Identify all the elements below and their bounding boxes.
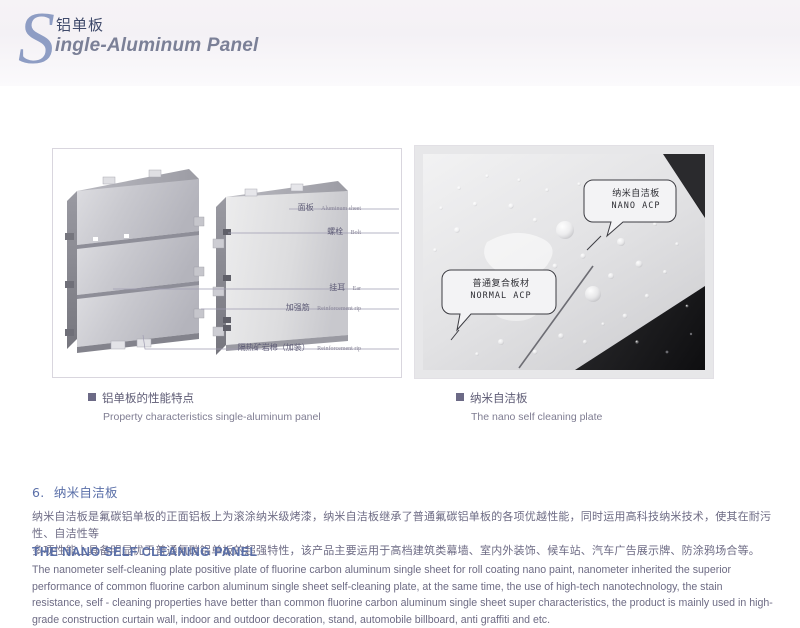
caption-left: 铝单板的性能特点 Property characteristics single… (88, 389, 321, 423)
page-title-english: ingle-Aluminum Panel (55, 35, 259, 57)
section-body-en: The nanometer self-cleaning plate positi… (32, 562, 774, 628)
caption-left-cn-row: 铝单板的性能特点 (88, 389, 321, 407)
section-body-cn-line1: 纳米自洁板是氟碳铝单板的正面铝板上为滚涂纳米级烤漆，纳米自洁板继承了普通氟碳铝单… (32, 508, 772, 542)
panel-front-assembly (213, 181, 348, 355)
aluminum-panel-diagram: 面板 Aluminum sheet 螺栓 Bolt 挂耳 Ear 加强筋 Rei… (52, 148, 402, 378)
section-heading-en: THE NANO SELF CLEANING PANEL (32, 545, 258, 559)
section-number: 6. (32, 485, 45, 500)
drop-cap-letter: S (18, 2, 55, 76)
caption-en: Property characteristics single-aluminum… (103, 411, 321, 423)
page-header: S 铝单板 ingle-Aluminum Panel (0, 0, 800, 86)
page-title-chinese: 铝单板 (56, 14, 104, 35)
caption-en: The nano self cleaning plate (471, 411, 602, 423)
caption-right: 纳米自洁板 The nano self cleaning plate (456, 389, 602, 423)
caption-cn: 纳米自洁板 (470, 391, 528, 405)
caption-cn: 铝单板的性能特点 (102, 391, 194, 405)
nano-self-cleaning-photo: 纳米自洁板 NANO ACP 普通复合板材 NORMAL ACP (414, 145, 714, 379)
bullet-square-icon (88, 393, 96, 401)
bullet-square-icon (456, 393, 464, 401)
caption-right-cn-row: 纳米自洁板 (456, 389, 602, 407)
section-heading-cn-row: 6. 纳米自洁板 (32, 482, 772, 501)
section-heading-cn: 纳米自洁板 (54, 485, 118, 500)
panel-back-assembly (65, 169, 204, 353)
